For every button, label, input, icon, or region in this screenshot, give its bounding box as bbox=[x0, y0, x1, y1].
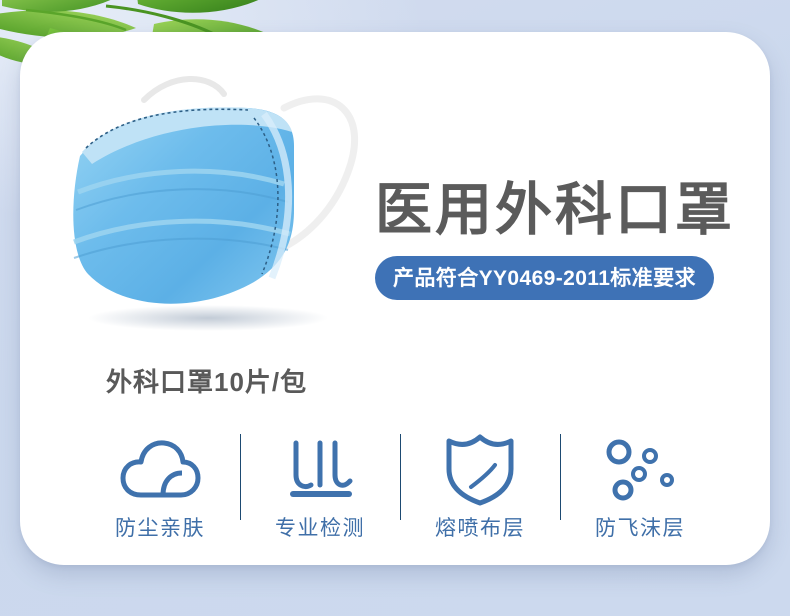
product-card: 医用外科口罩 产品符合YY0469-2011标准要求 外科口罩10片/包 防尘亲… bbox=[20, 32, 770, 565]
feature-item-dustproof: 防尘亲肤 bbox=[80, 428, 240, 542]
shield-icon bbox=[443, 428, 517, 510]
droplets-icon bbox=[597, 428, 683, 510]
feature-list: 防尘亲肤 专业检测 bbox=[80, 428, 720, 558]
pack-subtitle: 外科口罩10片/包 bbox=[106, 362, 307, 399]
standard-badge: 产品符合YY0469-2011标准要求 bbox=[375, 256, 714, 300]
feature-label: 专业检测 bbox=[275, 512, 365, 542]
feature-item-testing: 专业检测 bbox=[240, 428, 400, 542]
feature-label: 防尘亲肤 bbox=[115, 512, 205, 542]
page-background: 医用外科口罩 产品符合YY0469-2011标准要求 外科口罩10片/包 防尘亲… bbox=[0, 0, 790, 616]
feature-item-droplet: 防飞沫层 bbox=[560, 428, 720, 542]
feature-item-meltblown: 熔喷布层 bbox=[400, 428, 560, 542]
feature-label: 防飞沫层 bbox=[595, 512, 685, 542]
page-title: 医用外科口罩 bbox=[375, 180, 755, 242]
headline-block: 医用外科口罩 产品符合YY0469-2011标准要求 bbox=[375, 180, 755, 300]
feature-label: 熔喷布层 bbox=[435, 512, 525, 542]
cloud-icon bbox=[119, 428, 201, 510]
surgical-mask-photo bbox=[48, 60, 378, 340]
test-tubes-icon bbox=[280, 428, 360, 510]
